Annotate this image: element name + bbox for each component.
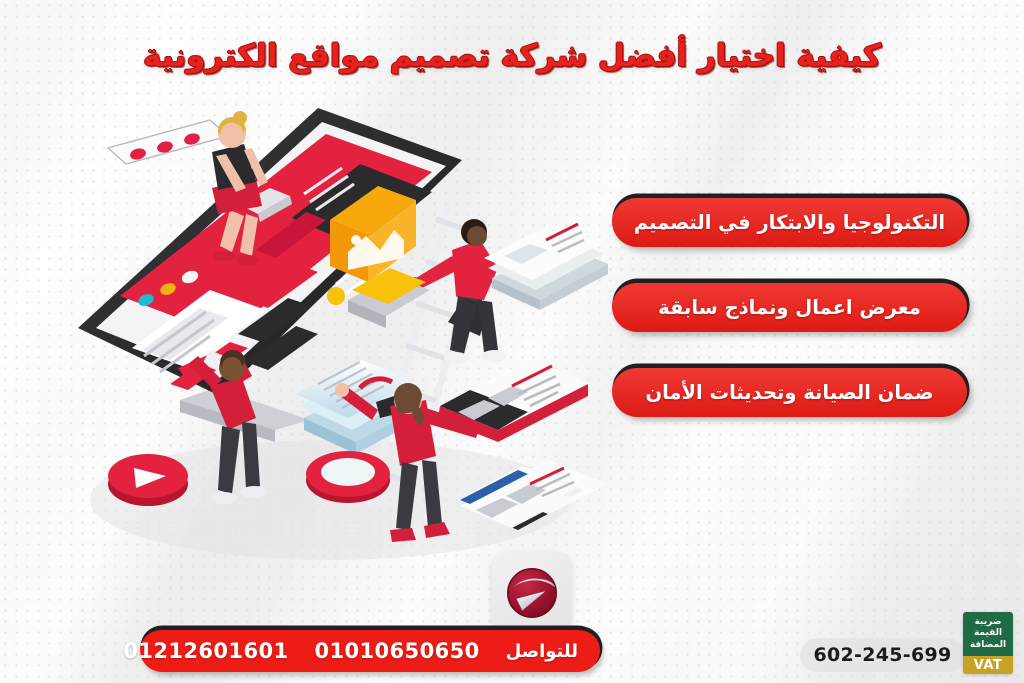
floating-ui-card-stack [484,224,608,310]
vat-latin-label: VAT [974,658,1003,673]
red-play-button-disc [108,454,188,506]
company-logo[interactable] [492,552,572,634]
vat-line-3: المضافة [970,640,1006,651]
vat-badge-arabic-block: ضريبة القيمة المضافة [963,612,1013,656]
vat-line-1: ضريبة [975,617,1002,628]
play-arrow-circle-icon [501,562,563,624]
page-title-container: كيفية اختيار أفضل شركة تصميم مواقع الكتر… [0,38,1024,74]
feature-label: التكنولوجيا والابتكار في التصميم [634,211,945,234]
tax-number: 602-245-699 [813,644,951,666]
phone-number-primary[interactable]: 01010650650 [314,639,479,663]
contact-label: للتواصل [506,641,578,662]
red-ring [306,451,390,503]
feature-label: ضمان الصيانة وتحديثات الأمان [645,381,933,404]
floating-dots-card [108,120,228,164]
feature-bar-portfolio[interactable]: معرض اعمال ونماذج سابقة [612,281,967,332]
vat-badge-latin-block: VAT [963,656,1013,674]
feature-label: معرض اعمال ونماذج سابقة [658,296,921,319]
phone-number-secondary[interactable]: 01212601601 [123,639,288,663]
poster-canvas: كيفية اختيار أفضل شركة تصميم مواقع الكتر… [0,0,1024,683]
tax-number-pill: 602-245-699 [800,638,965,672]
yellow-folder [327,268,430,328]
feature-bar-technology[interactable]: التكنولوجيا والابتكار في التصميم [612,196,967,247]
isometric-illustration [60,100,620,570]
vat-badge: ضريبة القيمة المضافة VAT [963,612,1013,674]
page-title: كيفية اختيار أفضل شركة تصميم مواقع الكتر… [143,38,881,74]
contact-bar[interactable]: للتواصل 01010650650 01212601601 [140,628,600,672]
feature-bar-maintenance[interactable]: ضمان الصيانة وتحديثات الأمان [612,366,967,417]
vat-line-2: القيمة [974,628,1002,639]
